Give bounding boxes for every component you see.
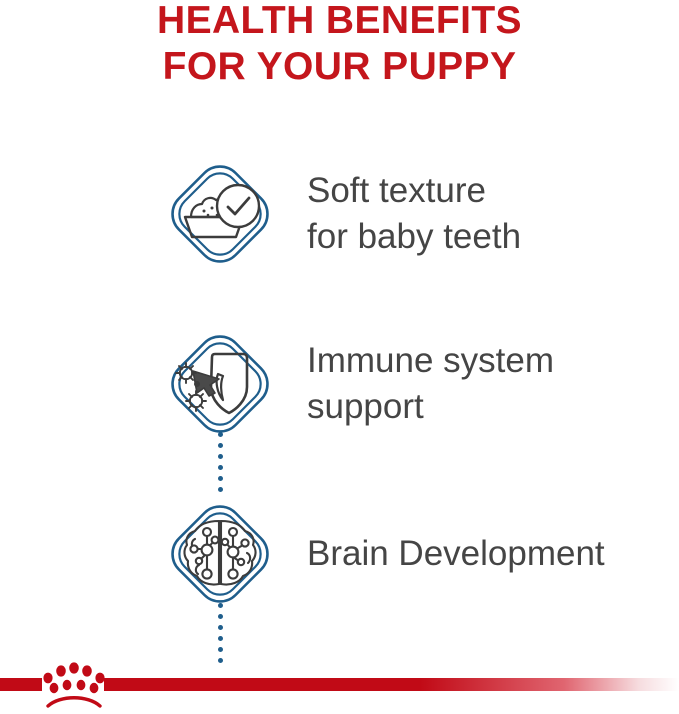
food-bowl-check-icon <box>155 149 285 279</box>
benefit-label-immune-support: Immune system support <box>307 338 554 430</box>
benefit-item-brain-development: Brain Development <box>0 488 679 620</box>
footer-brand-bar <box>0 654 679 714</box>
benefits-list: Soft texture for baby teeth <box>0 148 679 658</box>
benefit-label-soft-texture: Soft texture for baby teeth <box>307 168 521 260</box>
connector-dots-1 <box>218 432 224 472</box>
shield-germs-icon <box>155 319 285 449</box>
connector-dots-2 <box>218 603 224 643</box>
brain-network-icon <box>155 489 285 619</box>
benefit-item-soft-texture: Soft texture for baby teeth <box>0 148 679 280</box>
royal-canin-crown-logo <box>38 658 110 710</box>
benefit-label-brain-development: Brain Development <box>307 531 605 577</box>
page-title: HEALTH BENEFITS FOR YOUR PUPPY <box>0 0 679 90</box>
footer-bar-left-segment <box>0 678 42 691</box>
page-title-line-1: HEALTH BENEFITS <box>0 0 679 44</box>
benefit-item-immune-support: Immune system support <box>0 318 679 450</box>
footer-bar-right-segment <box>104 678 679 691</box>
page-title-line-2: FOR YOUR PUPPY <box>0 44 679 90</box>
